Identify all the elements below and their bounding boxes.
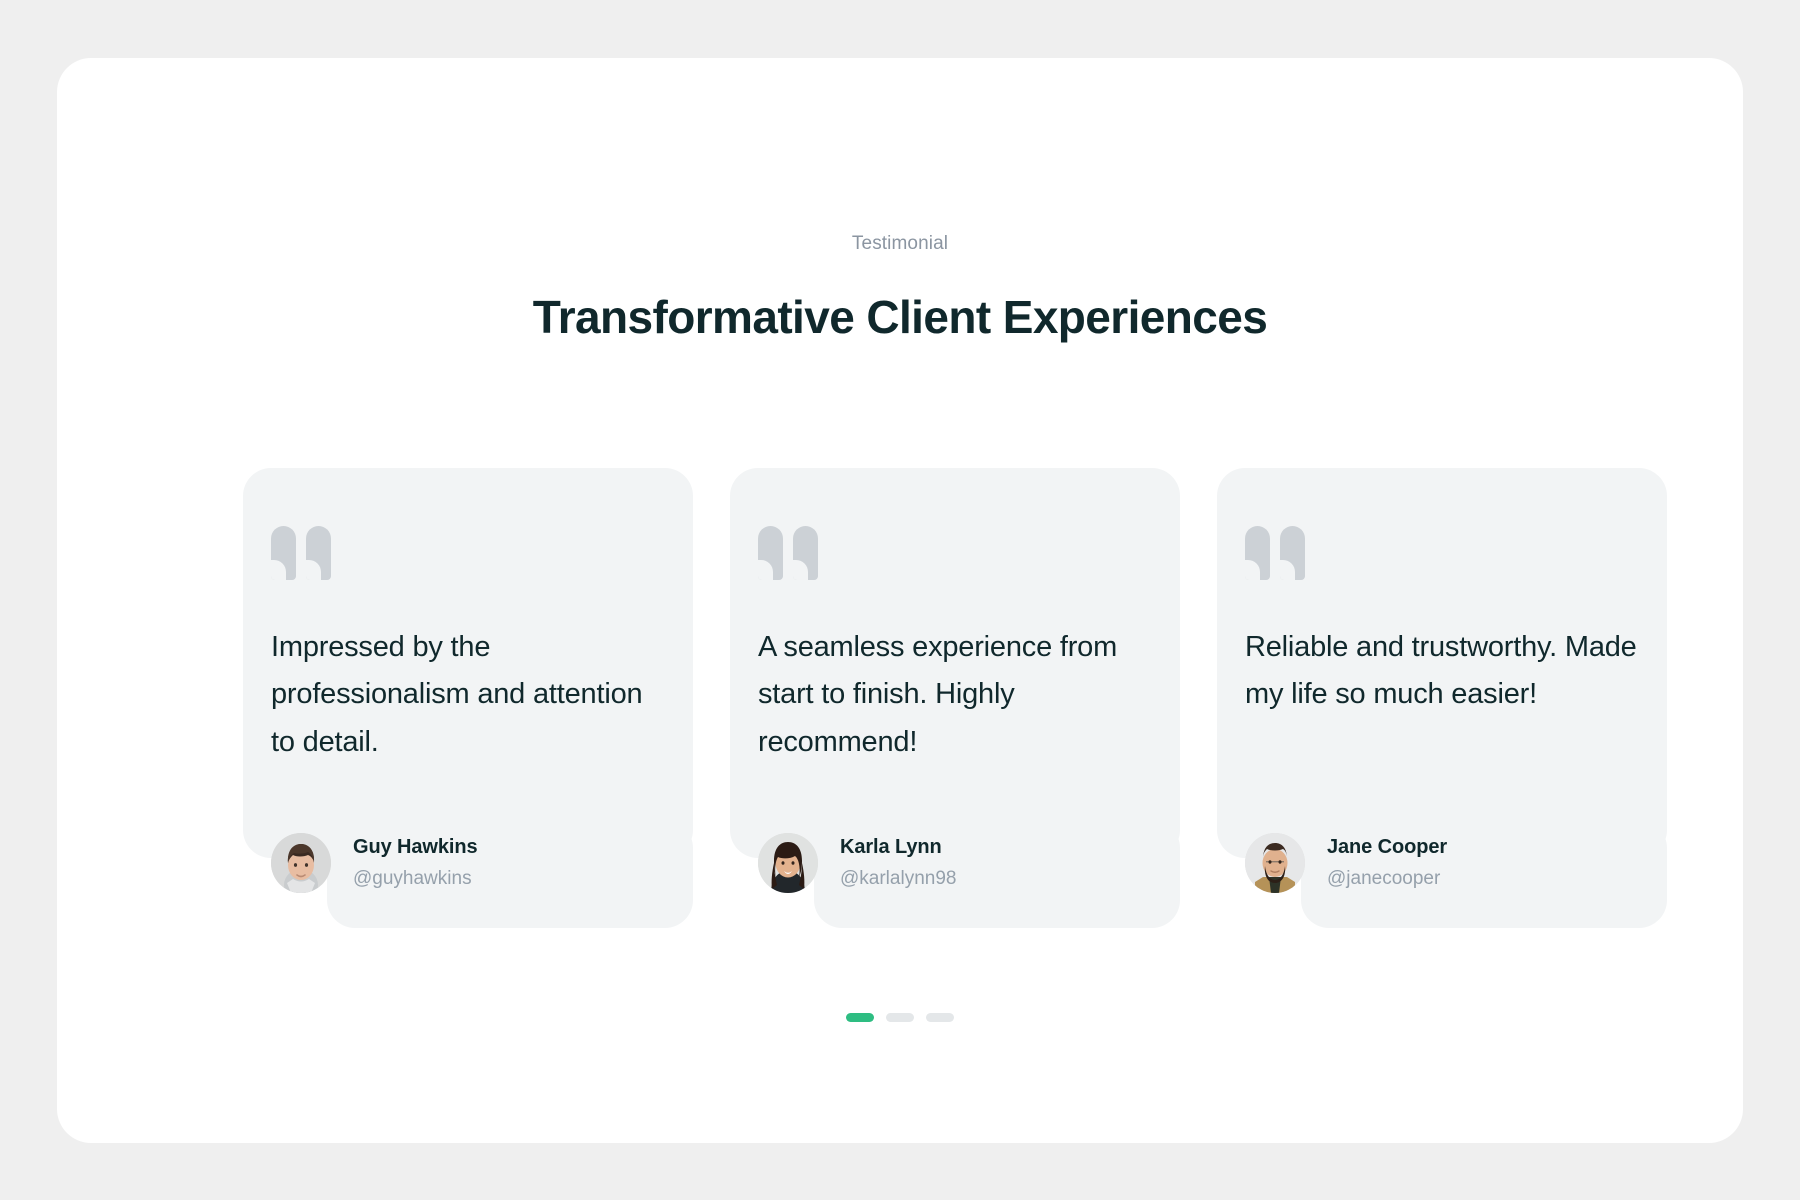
author-name: Guy Hawkins <box>353 836 478 859</box>
pagination-dot-2[interactable] <box>886 1013 914 1022</box>
testimonial-panel: Testimonial Transformative Client Experi… <box>57 58 1743 1143</box>
testimonial-card-list: Impressed by the professionalism and att… <box>243 468 1669 858</box>
testimonial-quote: Impressed by the professionalism and att… <box>271 624 665 766</box>
testimonial-author: Jane Cooper @janecooper <box>1245 833 1447 893</box>
author-handle: @janecooper <box>1327 868 1447 890</box>
author-text-block: Jane Cooper @janecooper <box>1327 836 1447 890</box>
quote-mark-icon <box>271 526 665 580</box>
testimonial-quote: Reliable and trustworthy. Made my life s… <box>1245 624 1639 719</box>
testimonial-card[interactable]: Reliable and trustworthy. Made my life s… <box>1217 468 1667 858</box>
author-text-block: Guy Hawkins @guyhawkins <box>353 836 478 890</box>
testimonial-quote: A seamless experience from start to fini… <box>758 624 1152 766</box>
pagination-dot-3[interactable] <box>926 1013 954 1022</box>
quote-mark-icon <box>758 526 1152 580</box>
pagination-dot-1[interactable] <box>846 1013 874 1022</box>
testimonial-card[interactable]: A seamless experience from start to fini… <box>730 468 1180 858</box>
testimonial-page: Testimonial Transformative Client Experi… <box>0 0 1800 1200</box>
testimonial-author: Guy Hawkins @guyhawkins <box>271 833 478 893</box>
testimonial-card[interactable]: Impressed by the professionalism and att… <box>243 468 693 858</box>
author-name: Jane Cooper <box>1327 836 1447 859</box>
card-bubble: A seamless experience from start to fini… <box>730 468 1180 858</box>
author-text-block: Karla Lynn @karlalynn98 <box>840 836 956 890</box>
section-eyebrow: Testimonial <box>57 233 1743 255</box>
author-handle: @karlalynn98 <box>840 868 956 890</box>
author-handle: @guyhawkins <box>353 868 478 890</box>
section-header: Testimonial Transformative Client Experi… <box>57 233 1743 344</box>
card-bubble: Impressed by the professionalism and att… <box>243 468 693 858</box>
carousel-pagination <box>57 1013 1743 1022</box>
page-title: Transformative Client Experiences <box>57 290 1743 344</box>
author-name: Karla Lynn <box>840 836 956 859</box>
card-bubble: Reliable and trustworthy. Made my life s… <box>1217 468 1667 858</box>
avatar-photo-guy-hawkins <box>271 833 331 893</box>
testimonial-author: Karla Lynn @karlalynn98 <box>758 833 956 893</box>
avatar-photo-karla-lynn <box>758 833 818 893</box>
quote-mark-icon <box>1245 526 1639 580</box>
avatar-photo-jane-cooper <box>1245 833 1305 893</box>
